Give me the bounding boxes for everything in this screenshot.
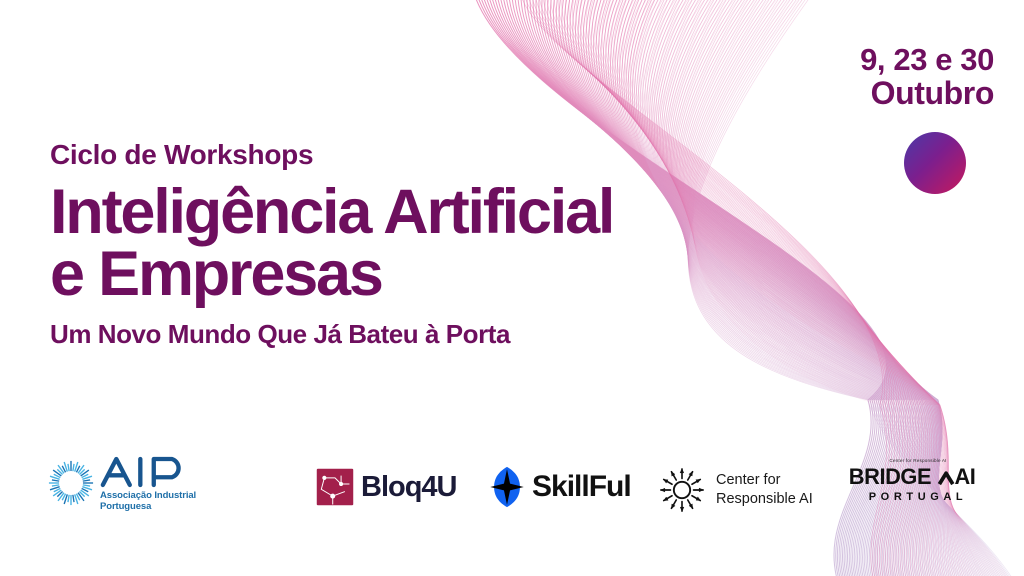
page-subtitle: Um Novo Mundo Que Já Bateu à Porta	[50, 320, 870, 350]
sun-arrows-icon	[658, 466, 706, 514]
gradient-circle-accent	[904, 132, 966, 194]
event-date-month: Outubro	[754, 77, 994, 111]
aip-tagline: Associação Industrial Portuguesa	[100, 490, 196, 512]
logo-bloq4u[interactable]: Bloq4U	[316, 468, 457, 506]
center-responsible-ai-wordmark: Center for Responsible AI	[716, 471, 813, 509]
event-date-days: 9, 23 e 30	[754, 44, 994, 77]
poster-canvas: 9, 23 e 30 Outubro Ciclo de Workshops In…	[0, 0, 1024, 576]
event-date: 9, 23 e 30 Outubro	[754, 44, 994, 111]
circuit-square-icon	[316, 468, 354, 506]
logo-center-responsible-ai[interactable]: Center for Responsible AI	[658, 466, 813, 514]
aip-wordmark	[100, 454, 196, 488]
logo-aip[interactable]: Associação Industrial Portuguesa	[48, 454, 196, 512]
bridge-ai-tagline: Center for Responsible AI	[889, 458, 946, 463]
bridge-ai-subline: PORTUGAL	[869, 491, 968, 503]
bridge-ai-wordmark: BRIDGE AI	[848, 464, 988, 490]
partner-logo-row: Associação Industrial Portuguesa Bl	[0, 452, 1024, 532]
svg-text:AI: AI	[954, 464, 975, 489]
eyebrow-label: Ciclo de Workshops	[50, 140, 870, 171]
skillful-wordmark: SkillFul	[532, 470, 631, 504]
svg-text:BRIDGE: BRIDGE	[849, 464, 931, 489]
headline-block: Ciclo de Workshops Inteligência Artifici…	[50, 140, 870, 349]
bloq4u-wordmark: Bloq4U	[361, 471, 457, 504]
logo-bridge-ai-portugal[interactable]: Center for Responsible AI BRIDGE AI PORT…	[848, 458, 988, 503]
page-title: Inteligência Artificial e Empresas	[50, 181, 870, 306]
star-petal-icon	[488, 466, 526, 508]
radial-burst-icon	[48, 460, 94, 506]
logo-skillful[interactable]: SkillFul	[488, 466, 631, 508]
